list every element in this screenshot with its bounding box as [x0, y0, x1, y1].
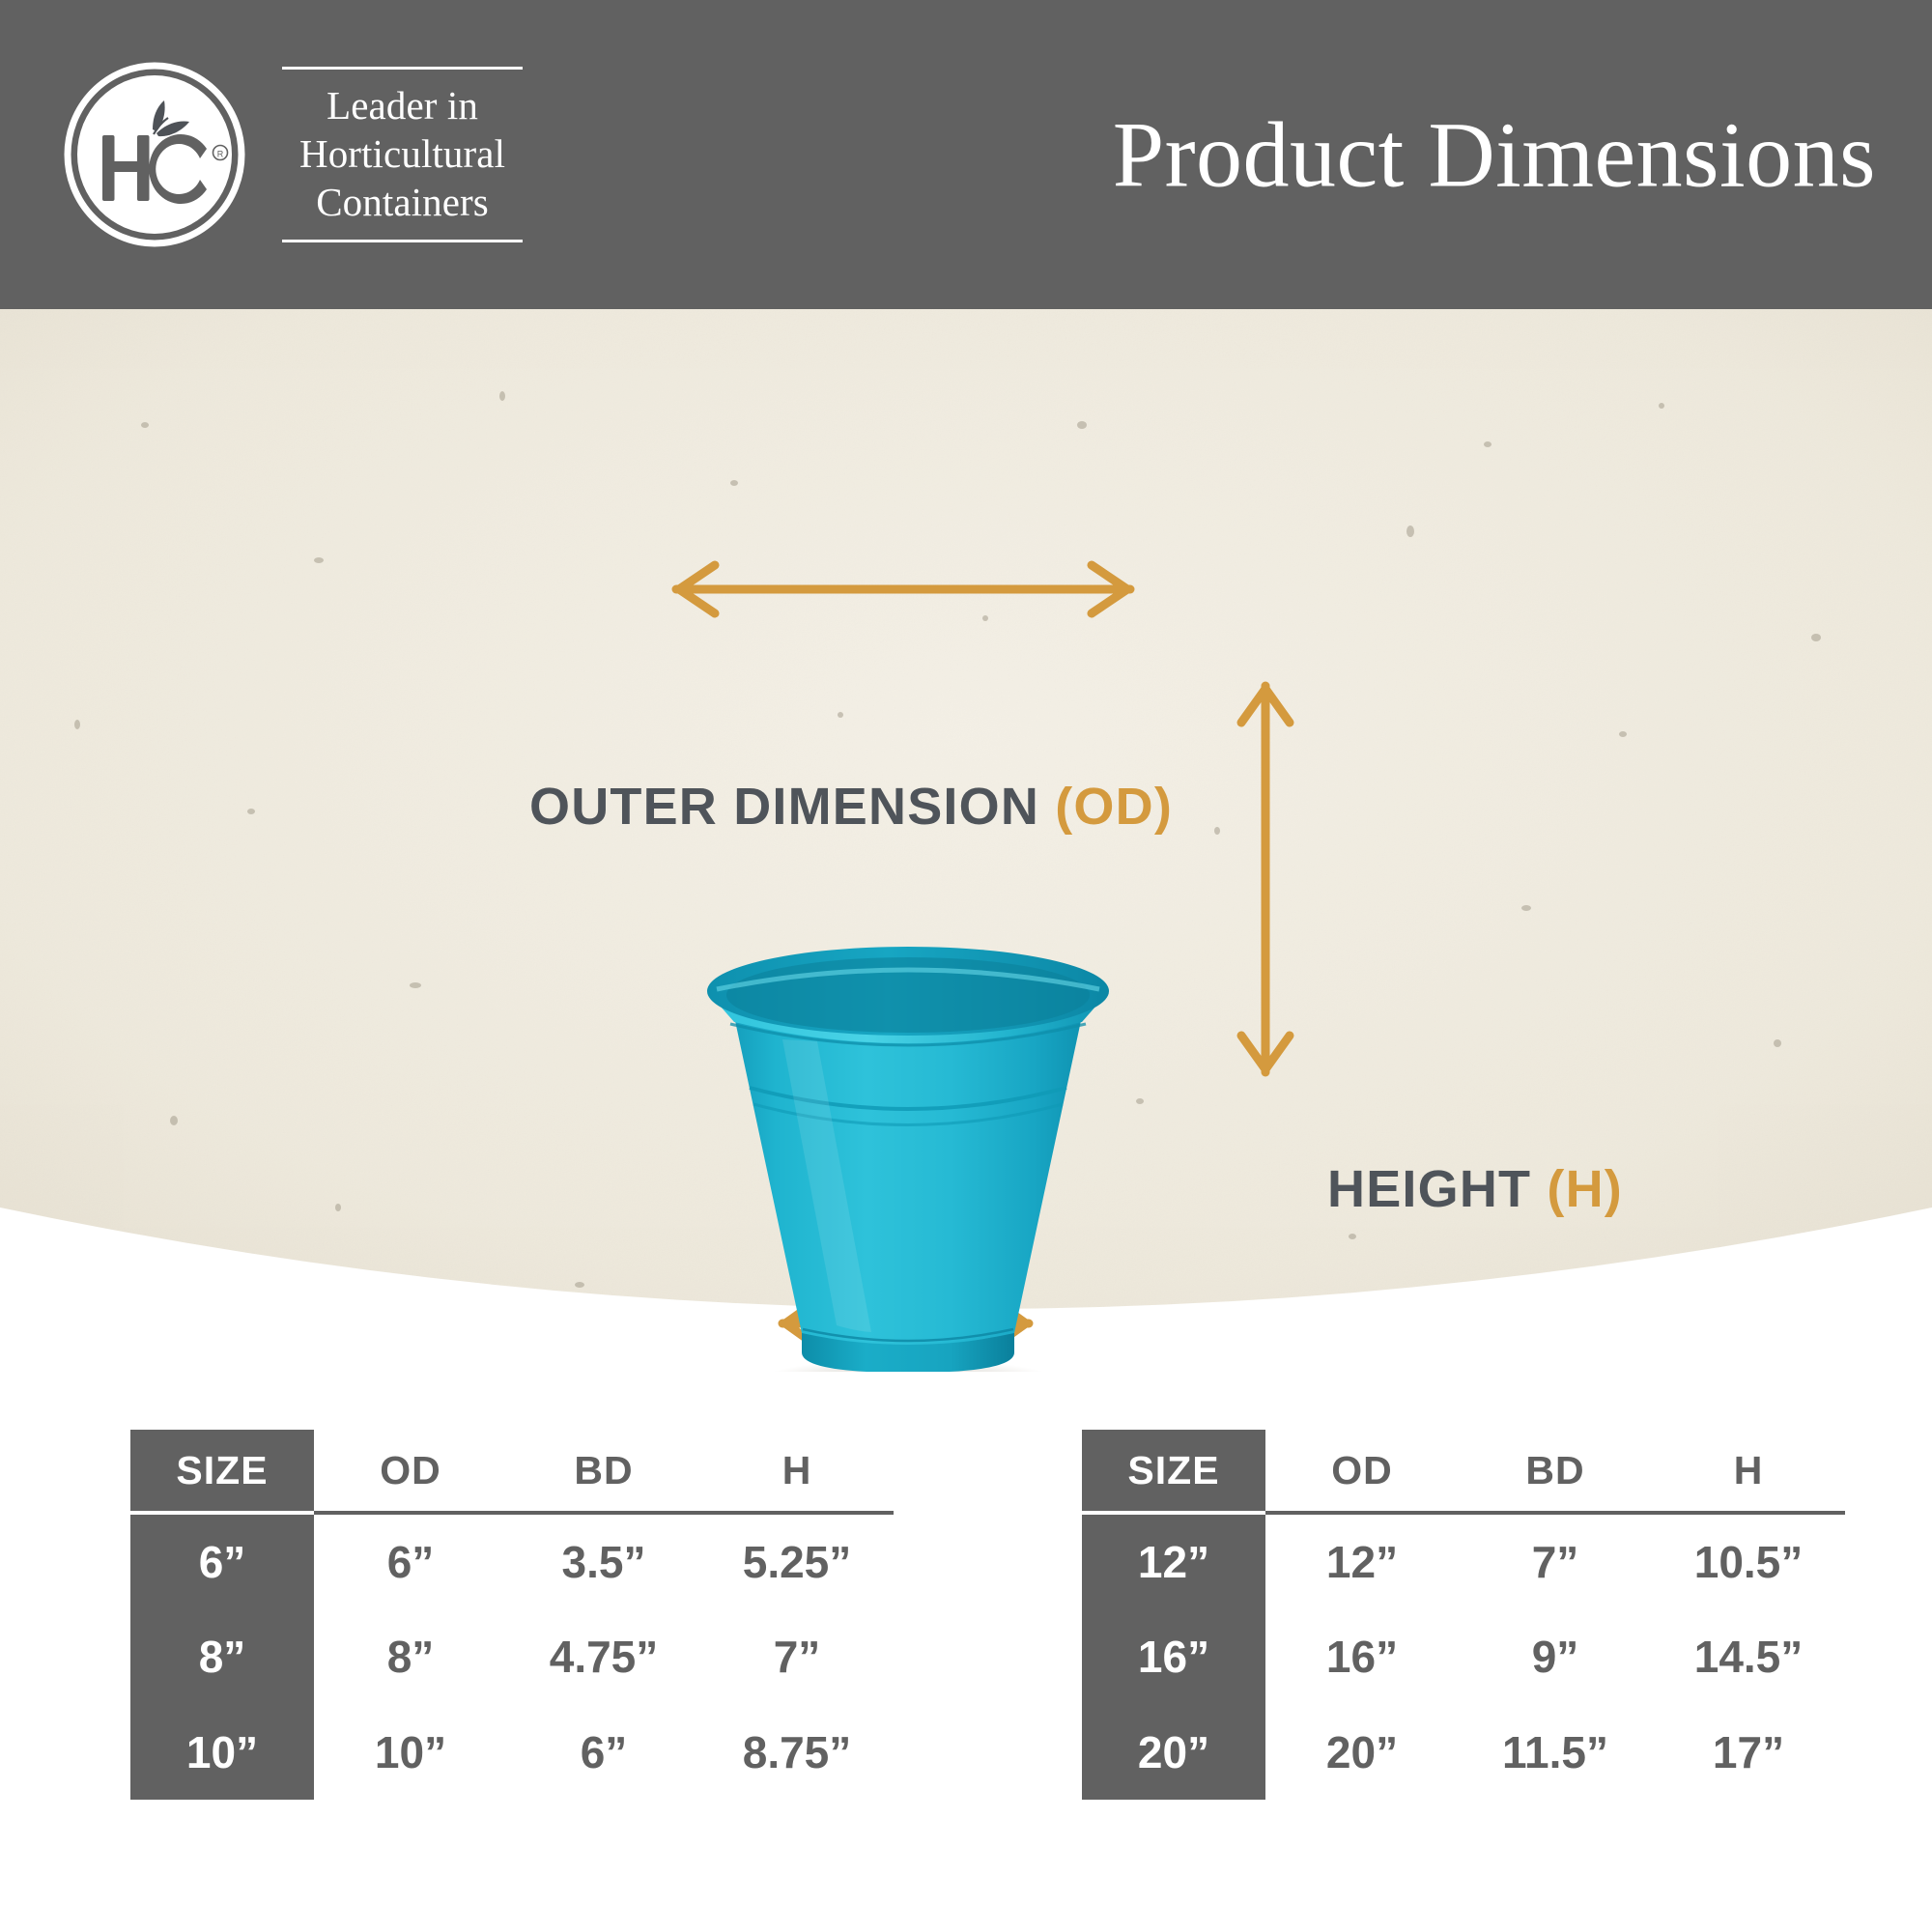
cell-bd: 11.5”	[1459, 1704, 1652, 1800]
svg-text:R: R	[217, 150, 224, 159]
height-label-text: HEIGHT	[1327, 1160, 1547, 1218]
cell-size: 20”	[1082, 1704, 1265, 1800]
dimension-tables: SIZE OD BD H 6” 6” 3.5” 5.25” 8” 8” 4.75…	[0, 1430, 1932, 1932]
outer-dimension-label: OUTER DIMENSION (OD)	[529, 777, 1173, 837]
cell-h: 7”	[700, 1608, 894, 1704]
table-row: 8” 8” 4.75” 7”	[130, 1608, 894, 1704]
cell-size: 6”	[130, 1513, 314, 1608]
cell-h: 8.75”	[700, 1704, 894, 1800]
height-label: HEIGHT (H)	[1327, 1159, 1623, 1219]
cell-bd: 3.5”	[507, 1513, 700, 1608]
table-row: 12” 12” 7” 10.5”	[1082, 1513, 1845, 1608]
page-header: R Leader in Horticultural Containers Pro…	[0, 0, 1932, 309]
column-header-h: H	[700, 1430, 894, 1513]
cell-od: 8”	[314, 1608, 507, 1704]
cell-od: 6”	[314, 1513, 507, 1608]
diagram-panel: OUTER DIMENSION (OD) HEIGHT (H) BASE DIM…	[0, 309, 1932, 1372]
teal-planter-pot-image	[667, 947, 1150, 1372]
cell-h: 14.5”	[1652, 1608, 1845, 1704]
page-title: Product Dimensions	[1113, 101, 1876, 209]
cell-od: 16”	[1265, 1608, 1459, 1704]
cell-od: 10”	[314, 1704, 507, 1800]
table-row: 10” 10” 6” 8.75”	[130, 1704, 894, 1800]
height-arrow-icon	[1241, 686, 1290, 1072]
cell-size: 8”	[130, 1608, 314, 1704]
cell-od: 20”	[1265, 1704, 1459, 1800]
brand-tagline-line-2: Horticultural	[299, 129, 505, 178]
dimension-table-large-sizes: SIZE OD BD H 12” 12” 7” 10.5” 16” 16” 9”	[1082, 1430, 1845, 1800]
column-header-size: SIZE	[130, 1430, 314, 1513]
column-header-size: SIZE	[1082, 1430, 1265, 1513]
brand-tagline-line-1: Leader in	[299, 81, 505, 129]
product-dimensions-infographic: R Leader in Horticultural Containers Pro…	[0, 0, 1932, 1932]
cell-size: 16”	[1082, 1608, 1265, 1704]
table-row: 16” 16” 9” 14.5”	[1082, 1608, 1845, 1704]
brand-lockup: R Leader in Horticultural Containers	[60, 60, 523, 249]
cell-size: 12”	[1082, 1513, 1265, 1608]
cell-size: 10”	[130, 1704, 314, 1800]
table-header-row: SIZE OD BD H	[130, 1430, 894, 1513]
cell-bd: 7”	[1459, 1513, 1652, 1608]
table-header-row: SIZE OD BD H	[1082, 1430, 1845, 1513]
column-header-od: OD	[314, 1430, 507, 1513]
table-row: 6” 6” 3.5” 5.25”	[130, 1513, 894, 1608]
cell-h: 5.25”	[700, 1513, 894, 1608]
cell-h: 17”	[1652, 1704, 1845, 1800]
column-header-bd: BD	[507, 1430, 700, 1513]
height-abbr: (H)	[1547, 1160, 1623, 1218]
dimension-table-small-sizes: SIZE OD BD H 6” 6” 3.5” 5.25” 8” 8” 4.75…	[130, 1430, 894, 1800]
od-arrow-icon	[676, 565, 1130, 613]
cell-bd: 4.75”	[507, 1608, 700, 1704]
column-header-h: H	[1652, 1430, 1845, 1513]
cell-od: 12”	[1265, 1513, 1459, 1608]
cell-bd: 9”	[1459, 1608, 1652, 1704]
table-row: 20” 20” 11.5” 17”	[1082, 1704, 1845, 1800]
brand-tagline: Leader in Horticultural Containers	[282, 67, 523, 242]
od-label-text: OUTER DIMENSION	[529, 778, 1055, 836]
hc-circle-leaf-logo-icon: R	[60, 60, 249, 249]
brand-tagline-line-3: Containers	[299, 178, 505, 226]
od-abbr: (OD)	[1055, 778, 1173, 836]
column-header-bd: BD	[1459, 1430, 1652, 1513]
column-header-od: OD	[1265, 1430, 1459, 1513]
cell-h: 10.5”	[1652, 1513, 1845, 1608]
cell-bd: 6”	[507, 1704, 700, 1800]
